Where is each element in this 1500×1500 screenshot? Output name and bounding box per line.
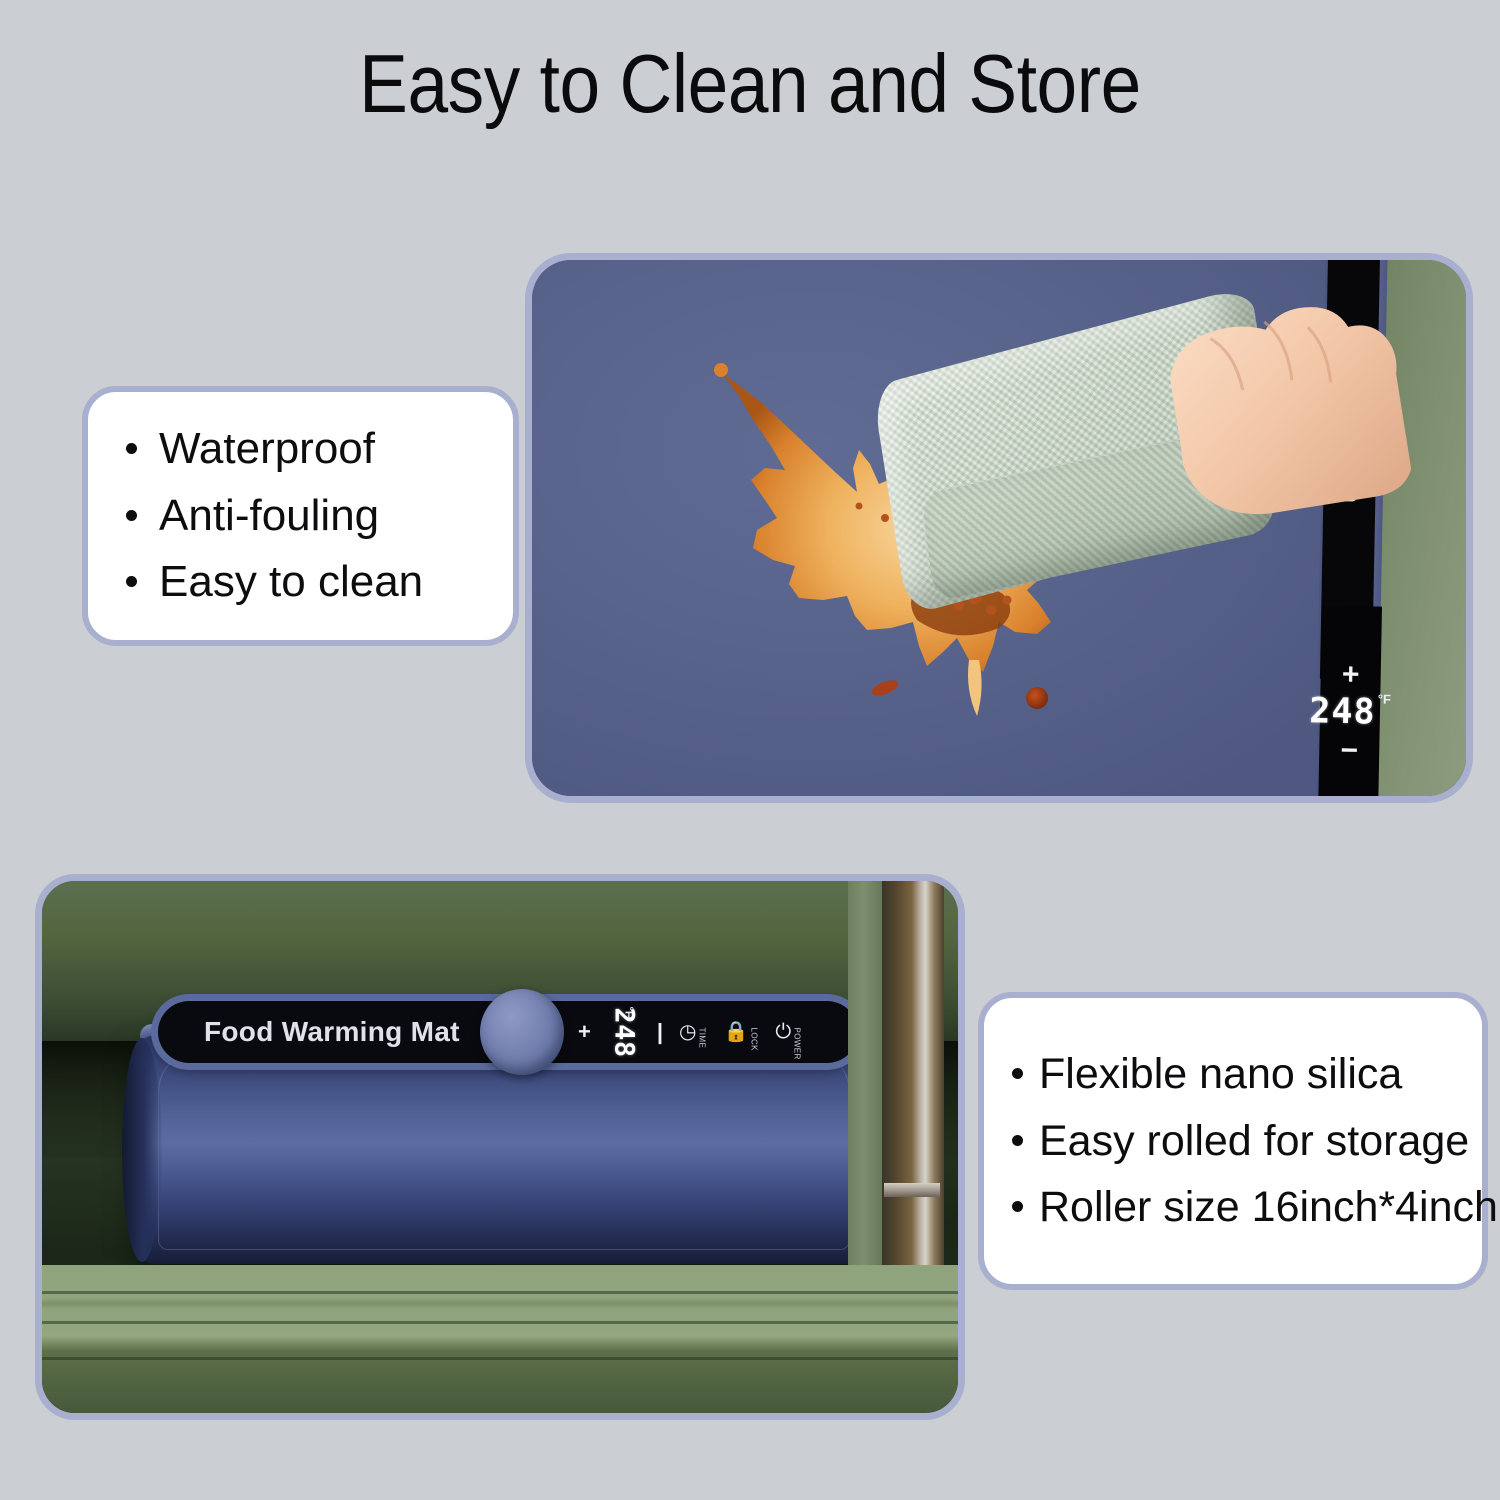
increase-temperature-button[interactable]: + xyxy=(578,1021,591,1043)
page-title: Easy to Clean and Store xyxy=(90,36,1410,132)
bullet-icon xyxy=(1012,1135,1023,1146)
lock-icon: 🔒 xyxy=(723,1022,748,1042)
product-brand-label: Food Warming Mat xyxy=(204,1016,460,1048)
drawer-trim-line xyxy=(42,1357,958,1360)
bullet-icon xyxy=(126,443,137,454)
list-item: Anti-fouling xyxy=(126,483,513,550)
feature-text: Flexible nano silica xyxy=(1039,1041,1402,1108)
bullet-icon xyxy=(1012,1201,1023,1212)
temperature-value: 248 xyxy=(608,1007,639,1057)
decrease-temperature-button[interactable]: | xyxy=(657,1021,663,1043)
cabinet-clamp xyxy=(884,1183,940,1197)
mat-control-bar[interactable]: Food Warming Mat + °F 248 | ◷ TIME 🔒 LOC… xyxy=(158,1001,858,1063)
roll-end-cap xyxy=(122,1038,162,1262)
power-button-label: POWER xyxy=(793,1027,802,1037)
temperature-display: 248 °F xyxy=(1309,694,1391,731)
feature-card-store: Flexible nano silica Easy rolled for sto… xyxy=(978,992,1488,1290)
bullet-icon xyxy=(1012,1068,1023,1079)
drawer-trim-line xyxy=(42,1321,958,1324)
time-button[interactable]: ◷ TIME xyxy=(679,1022,707,1042)
temperature-unit: °F xyxy=(1378,691,1391,706)
feature-text: Easy to clean xyxy=(159,549,423,616)
bullet-icon xyxy=(126,576,137,587)
list-item: Roller size 16inch*4inch xyxy=(1012,1174,1482,1241)
feature-text: Roller size 16inch*4inch xyxy=(1039,1174,1498,1241)
control-buttons-group[interactable]: + °F 248 | ◷ TIME 🔒 LOCK ⏻ POWER xyxy=(578,1001,802,1063)
lock-button[interactable]: 🔒 LOCK xyxy=(723,1022,759,1042)
list-item: Easy rolled for storage xyxy=(1012,1108,1482,1175)
list-item: Easy to clean xyxy=(126,549,513,616)
temperature-display: °F 248 xyxy=(607,1008,641,1056)
drawer-front xyxy=(42,1265,958,1413)
feature-card-clean: Waterproof Anti-fouling Easy to clean xyxy=(82,386,519,646)
drawer-trim-line xyxy=(42,1291,958,1294)
temperature-value: 248 xyxy=(1309,694,1376,730)
photo-easy-to-clean: ood Warm xyxy=(525,253,1473,803)
lock-button-label: LOCK xyxy=(750,1027,759,1037)
decrease-temperature-button[interactable]: − xyxy=(1340,739,1358,760)
increase-temperature-button[interactable]: + xyxy=(1342,663,1360,684)
time-button-label: TIME xyxy=(698,1027,707,1037)
mat-control-panel[interactable]: + 248 °F − xyxy=(1318,605,1382,803)
bullet-icon xyxy=(126,510,137,521)
list-item: Flexible nano silica xyxy=(1012,1041,1482,1108)
list-item: Waterproof xyxy=(126,416,513,483)
feature-list-clean: Waterproof Anti-fouling Easy to clean xyxy=(126,416,513,617)
feature-list-store: Flexible nano silica Easy rolled for sto… xyxy=(1012,1041,1482,1241)
power-button[interactable]: ⏻ POWER xyxy=(775,1022,802,1042)
feature-text: Anti-fouling xyxy=(159,483,379,550)
hand xyxy=(1128,253,1463,534)
feature-text: Waterproof xyxy=(159,416,375,483)
control-knob[interactable] xyxy=(480,989,564,1075)
photo-easy-to-store: Food Warming Mat + °F 248 | ◷ TIME 🔒 LOC… xyxy=(35,874,965,1420)
clock-icon: ◷ xyxy=(679,1022,696,1042)
power-icon: ⏻ xyxy=(775,1022,791,1042)
feature-text: Easy rolled for storage xyxy=(1039,1108,1469,1175)
